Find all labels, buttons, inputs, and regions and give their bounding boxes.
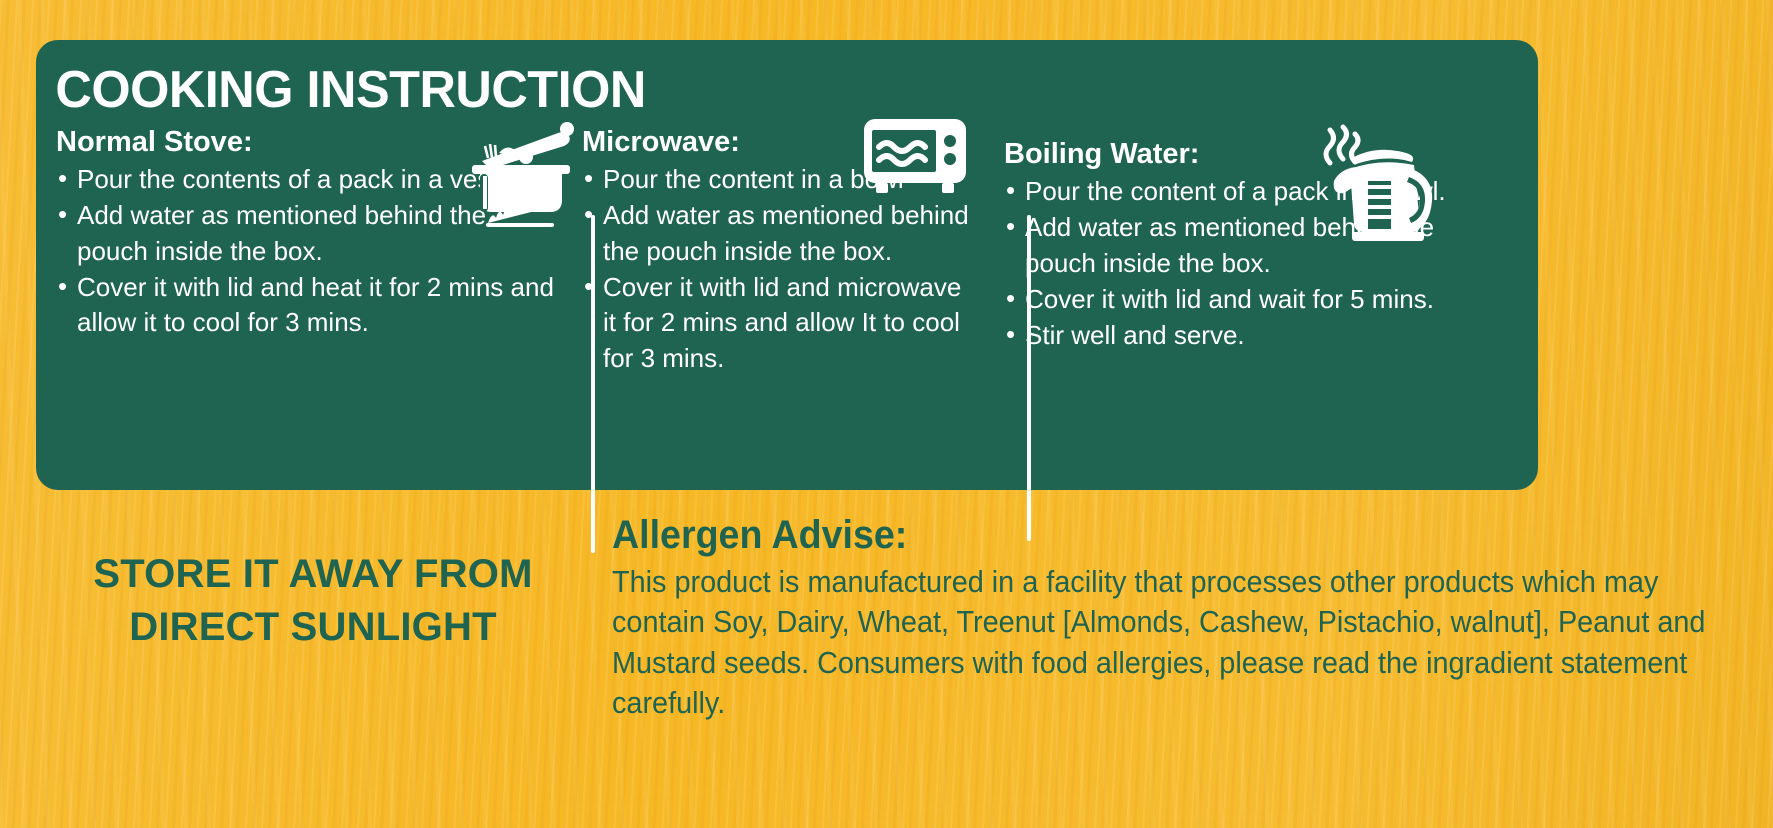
instruction-column-normal-stove: Normal Stove: Pour the contents of a pac… (36, 125, 556, 342)
instruction-column-boiling-water: Boiling Water: Pour the content of a pac… (976, 125, 1496, 355)
list-item: Add water as mentioned behind the pouch … (582, 198, 976, 269)
instruction-column-microwave: Microwave: Pour the content in a bowl Ad… (556, 125, 976, 377)
allergen-advise-section: Allergen Advise: This product is manufac… (612, 510, 1732, 723)
microwave-oven-icon (862, 117, 968, 197)
instruction-columns: Normal Stove: Pour the contents of a pac… (36, 119, 1538, 377)
allergen-title: Allergen Advise: (612, 510, 1665, 560)
list-item: Cover it with lid and microwave it for 2… (582, 270, 976, 376)
electric-kettle-steam-icon (1306, 119, 1446, 244)
allergen-body-text: This product is manufactured in a facili… (612, 562, 1719, 723)
storage-note: STORE IT AWAY FROM DIRECT SUNLIGHT (22, 548, 604, 654)
list-item: Cover it with lid and heat it for 2 mins… (56, 270, 556, 341)
list-item: Cover it with lid and wait for 5 mins. (1004, 282, 1496, 317)
cooking-instruction-card: COOKING INSTRUCTION Normal Stove: Pour t… (36, 40, 1538, 490)
list-item: Stir well and serve. (1004, 318, 1496, 353)
page-title: COOKING INSTRUCTION (36, 58, 1493, 119)
